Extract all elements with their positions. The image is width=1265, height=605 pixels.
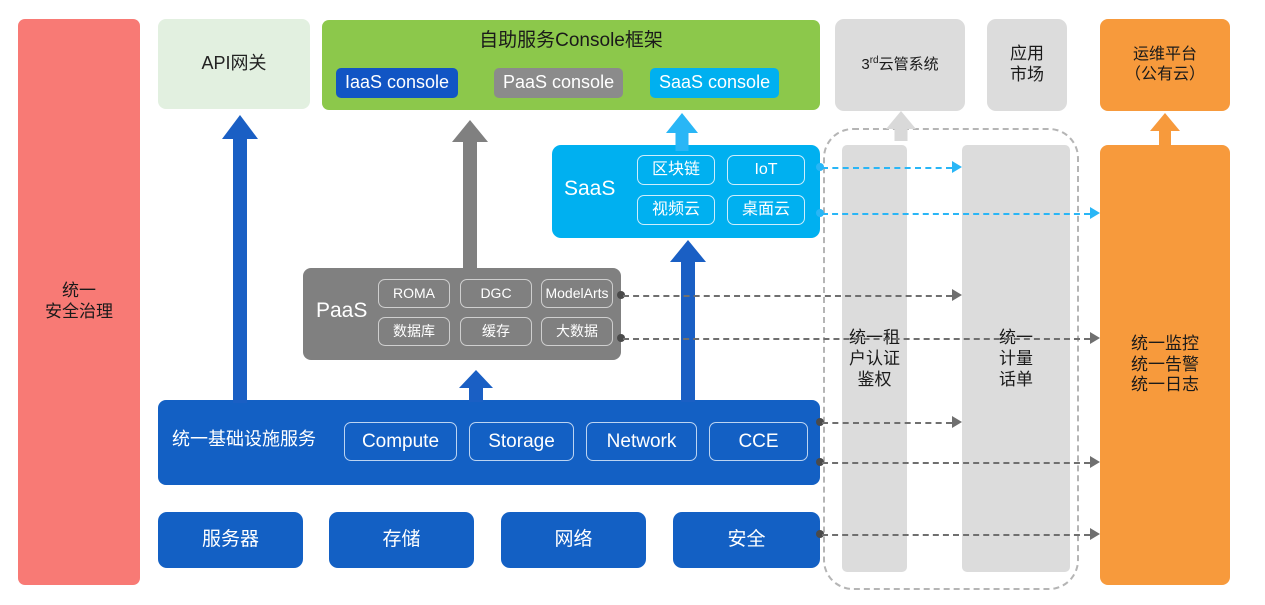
paas-console-chip: PaaS console [494, 68, 623, 98]
ops-top-line-1: 运维平台 [1125, 45, 1205, 65]
arrow-saas-to-console [666, 113, 698, 151]
saas-chip-video-cloud: 视频云 [637, 195, 715, 225]
ops-platform-public-cloud-box: 运维平台 （公有云） [1100, 19, 1230, 111]
paas-chip-bigdata: 大数据 [541, 317, 613, 346]
saas-label: SaaS [564, 176, 615, 202]
arrow-to-ops-platform [1150, 113, 1180, 147]
arrow-paas-to-console [452, 120, 488, 272]
arrow-infra-to-saas [670, 240, 706, 402]
paas-chip-cache: 缓存 [460, 317, 532, 346]
saas-chip-desktop-cloud: 桌面云 [727, 195, 805, 225]
api-gateway-label: API网关 [201, 53, 266, 75]
paas-block: PaaS ROMA DGC ModelArts 数据库 缓存 大数据 [303, 268, 621, 360]
paas-chip-modelarts: ModelArts [541, 279, 613, 308]
app-market-box: 应用 市场 [987, 19, 1067, 111]
infra-chip-compute: Compute [344, 422, 457, 461]
bottom-box-storage: 存储 [329, 512, 474, 568]
infra-chip-storage: Storage [469, 422, 574, 461]
arrowhead-infra-to-ops [1090, 456, 1100, 468]
api-gateway-box: API网关 [158, 19, 310, 109]
unified-tenant-auth-column: 统一租 户认证 鉴权 [842, 145, 907, 572]
arrowhead-paas-to-auth [952, 289, 962, 301]
dashed-line-paas-to-auth [623, 295, 952, 297]
infra-label: 统一基础设施服务 [172, 429, 316, 451]
ops-top-line-2: （公有云） [1125, 65, 1205, 85]
architecture-diagram: 统一 安全治理 API网关 自助服务Console框架 IaaS console… [0, 0, 1265, 605]
arrow-infra-to-api-gateway [222, 115, 258, 403]
paas-chip-database: 数据库 [378, 317, 450, 346]
ops-panel-line-3: 统一日志 [1131, 375, 1199, 396]
self-service-console-frame: 自助服务Console框架 IaaS console PaaS console … [322, 20, 820, 110]
saas-chip-iot: IoT [727, 155, 805, 185]
unified-metering-billing-column: 统一 计量 话单 [962, 145, 1070, 572]
dashed-line-saas-to-ops [822, 213, 1090, 215]
security-line-2: 安全治理 [45, 302, 113, 323]
unified-security-governance-panel: 统一 安全治理 [18, 19, 140, 585]
bottom-box-network: 网络 [501, 512, 646, 568]
arrowhead-paas-to-ops [1090, 332, 1100, 344]
infra-chip-network: Network [586, 422, 697, 461]
arrow-infra-to-paas [458, 370, 494, 402]
third-party-cloud-management-box: 3rd云管系统 [835, 19, 965, 111]
paas-label: PaaS [316, 298, 367, 324]
unified-infrastructure-service-bar: 统一基础设施服务 Compute Storage Network CCE [158, 400, 820, 485]
ops-panel-line-1: 统一监控 [1131, 334, 1199, 355]
auth-line-3: 鉴权 [849, 369, 900, 390]
auth-line-2: 户认证 [849, 348, 900, 369]
infra-chip-cce: CCE [709, 422, 808, 461]
unified-monitoring-panel: 统一监控 统一告警 统一日志 [1100, 145, 1230, 585]
saas-chip-blockchain: 区块链 [637, 155, 715, 185]
paas-chip-dgc: DGC [460, 279, 532, 308]
saas-console-chip: SaaS console [650, 68, 779, 98]
bottom-box-server: 服务器 [158, 512, 303, 568]
paas-chip-roma: ROMA [378, 279, 450, 308]
arrowhead-infra-to-auth [952, 416, 962, 428]
dashed-line-infra-to-ops [822, 462, 1090, 464]
app-market-line-2: 市场 [1010, 65, 1044, 86]
arrowhead-bottom-to-ops [1090, 528, 1100, 540]
iaas-console-chip: IaaS console [336, 68, 458, 98]
dashed-line-bottom-to-ops [822, 534, 1090, 536]
security-line-1: 统一 [45, 281, 113, 302]
saas-block: SaaS 区块链 IoT 视频云 桌面云 [552, 145, 820, 238]
ops-panel-line-2: 统一告警 [1131, 355, 1199, 376]
third-cloud-label: 3rd云管系统 [861, 55, 938, 74]
meter-line-3: 话单 [999, 369, 1033, 390]
bottom-box-security: 安全 [673, 512, 820, 568]
dashed-line-saas-to-auth [822, 167, 952, 169]
dashed-line-infra-to-auth [822, 422, 952, 424]
arrowhead-saas-to-ops [1090, 207, 1100, 219]
app-market-line-1: 应用 [1010, 44, 1044, 65]
console-frame-title: 自助服务Console框架 [322, 29, 820, 52]
meter-line-2: 计量 [999, 348, 1033, 369]
arrowhead-saas-to-auth [952, 161, 962, 173]
dashed-line-paas-to-ops [623, 338, 1090, 340]
arrow-to-third-cloud [885, 111, 917, 141]
